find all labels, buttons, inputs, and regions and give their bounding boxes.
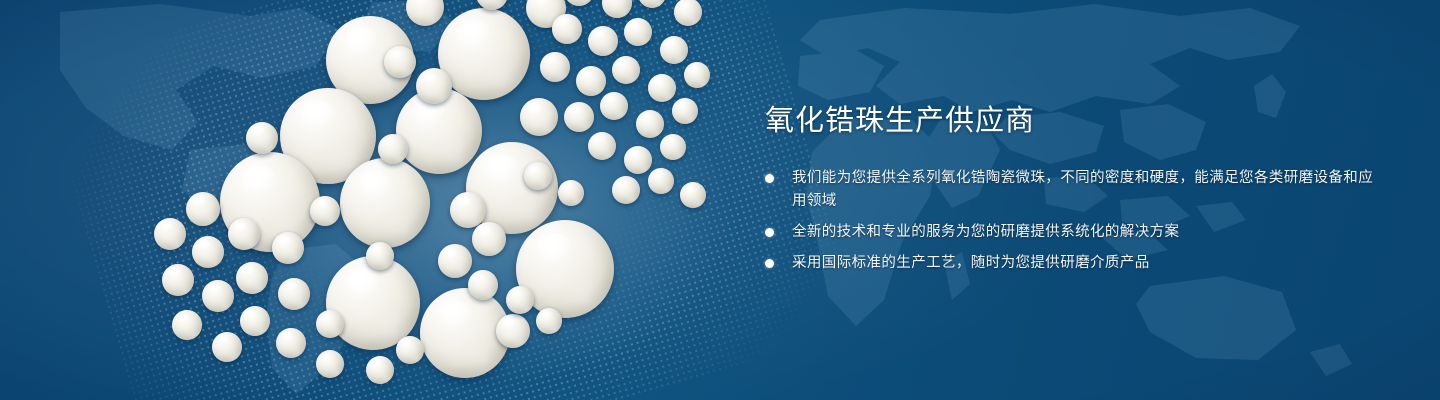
list-item-label: 全新的技术和专业的服务为您的研磨提供系统化的解决方案 <box>792 221 1385 244</box>
hero-banner: 氧化锆珠生产供应商 我们能为您提供全系列氧化锆陶瓷微珠，不同的密度和硬度，能满足… <box>0 0 1440 400</box>
banner-headline: 氧化锆珠生产供应商 <box>765 104 1385 139</box>
list-item-label: 我们能为您提供全系列氧化锆陶瓷微珠，不同的密度和硬度，能满足您各类研磨设备和应用… <box>792 167 1385 213</box>
bullet-dot-icon <box>765 228 774 237</box>
banner-feature-list: 我们能为您提供全系列氧化锆陶瓷微珠，不同的密度和硬度，能满足您各类研磨设备和应用… <box>765 167 1385 275</box>
banner-copy: 氧化锆珠生产供应商 我们能为您提供全系列氧化锆陶瓷微珠，不同的密度和硬度，能满足… <box>765 104 1385 275</box>
list-item: 全新的技术和专业的服务为您的研磨提供系统化的解决方案 <box>765 221 1385 244</box>
bullet-dot-icon <box>765 174 774 183</box>
list-item: 采用国际标准的生产工艺，随时为您提供研磨介质产品 <box>765 252 1385 275</box>
bullet-dot-icon <box>765 259 774 268</box>
list-item-label: 采用国际标准的生产工艺，随时为您提供研磨介质产品 <box>792 252 1385 275</box>
list-item: 我们能为您提供全系列氧化锆陶瓷微珠，不同的密度和硬度，能满足您各类研磨设备和应用… <box>765 167 1385 213</box>
